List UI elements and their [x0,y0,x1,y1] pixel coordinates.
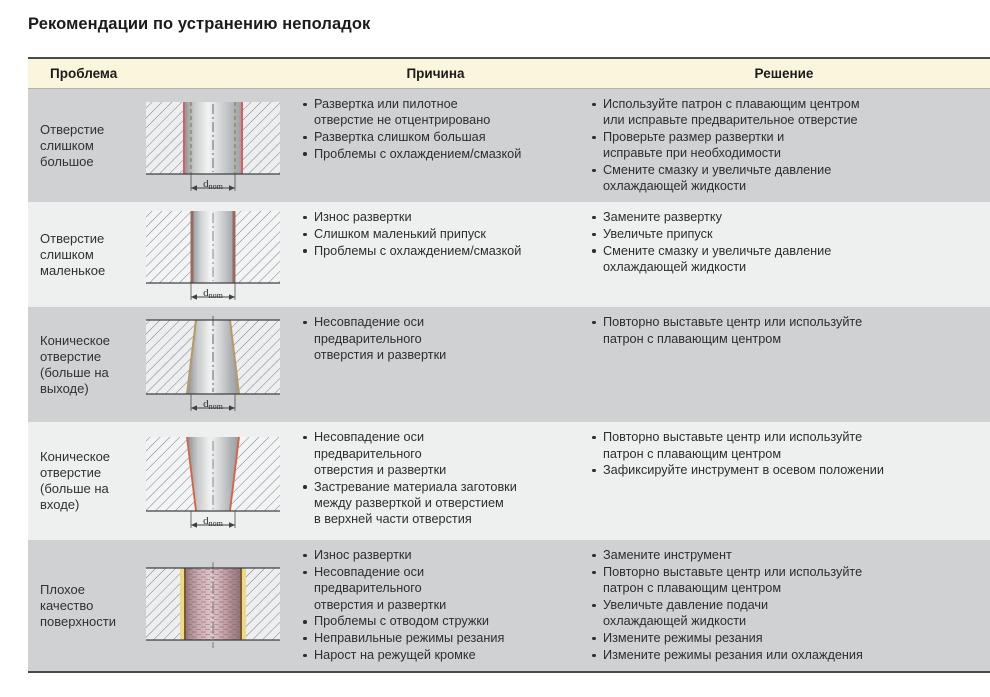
list-item: Неправильные режимы резания [301,630,568,646]
cell-solution: Повторно выставьте центр или используйте… [578,422,990,540]
solution-list: Повторно выставьте центр или используйте… [590,429,980,478]
cell-solution: Замените инструмент Повторно выставьте ц… [578,540,990,671]
list-item: Несовпадение оси предварительного отверс… [301,314,568,363]
figure-hole-oversize: dnom [136,96,293,196]
svg-text:dnom: dnom [203,287,224,300]
cross-section-diagram: dnom [138,205,288,305]
cause-list: Несовпадение оси предварительного отверс… [301,429,568,527]
troubleshooting-table-wrapper: Проблема Причина Решение Отверстие слишк… [28,57,990,673]
table-row: Коническое отверстие (больше на выходе) [28,307,990,422]
list-item: Слишком маленький припуск [301,226,568,242]
table-header-row: Проблема Причина Решение [28,59,990,89]
cell-problem: Плохое качество поверхности [28,540,293,671]
list-item: Замените развертку [590,209,980,225]
svg-text:dnom: dnom [203,398,224,411]
problem-label: Плохое качество поверхности [28,582,136,630]
solution-list: Замените инструмент Повторно выставьте ц… [590,547,980,663]
cross-section-diagram [138,556,288,656]
svg-text:dnom: dnom [203,178,224,191]
list-item: Проверьте размер развертки и исправьте п… [590,129,980,162]
table-body: Отверстие слишком большое [28,89,990,671]
list-item: Зафиксируйте инструмент в осевом положен… [590,462,980,478]
cell-cause: Износ развертки Слишком маленький припус… [293,202,578,307]
column-header-problem: Проблема [28,59,293,89]
solution-list: Повторно выставьте центр или используйте… [590,314,980,347]
cross-section-diagram: dnom [138,429,288,534]
list-item: Износ развертки [301,209,568,225]
list-item: Замените инструмент [590,547,980,563]
column-header-cause: Причина [293,59,578,89]
cell-problem: Коническое отверстие (больше на выходе) [28,307,293,422]
table-row: Отверстие слишком маленькое [28,202,990,307]
figure-hole-bad-surface [136,556,293,656]
list-item: Повторно выставьте центр или используйте… [590,314,980,347]
list-item: Смените смазку и увеличьте давление охла… [590,243,980,276]
table-row: Отверстие слишком большое [28,89,990,203]
list-item: Несовпадение оси предварительного отверс… [301,564,568,613]
list-item: Несовпадение оси предварительного отверс… [301,429,568,478]
list-item: Смените смазку и увеличьте давление охла… [590,162,980,195]
cause-list: Несовпадение оси предварительного отверс… [301,314,568,363]
problem-label: Отверстие слишком маленькое [28,231,136,279]
cause-list: Износ развертки Слишком маленький припус… [301,209,568,259]
list-item: Проблемы с охлаждением/смазкой [301,243,568,259]
list-item: Застревание материала заготовки между ра… [301,479,568,528]
list-item: Используйте патрон с плавающим центром и… [590,96,980,129]
problem-label: Коническое отверстие (больше на входе) [28,449,136,513]
list-item: Увеличьте припуск [590,226,980,242]
cause-list: Развертка или пилотное отверстие не отце… [301,96,568,162]
list-item: Нарост на режущей кромке [301,647,568,663]
troubleshooting-table: Проблема Причина Решение Отверстие слишк… [28,59,990,671]
list-item: Повторно выставьте центр или используйте… [590,429,980,462]
cause-list: Износ развертки Несовпадение оси предвар… [301,547,568,663]
list-item: Развертка слишком большая [301,129,568,145]
cell-solution: Используйте патрон с плавающим центром и… [578,89,990,203]
list-item: Проблемы с охлаждением/смазкой [301,146,568,162]
cell-problem: Коническое отверстие (больше на входе) [28,422,293,540]
figure-hole-taper-exit: dnom [136,312,293,417]
list-item: Измените режимы резания или охлаждения [590,647,980,663]
list-item: Износ развертки [301,547,568,563]
problem-label: Коническое отверстие (больше на выходе) [28,333,136,397]
problem-label: Отверстие слишком большое [28,122,136,170]
solution-list: Используйте патрон с плавающим центром и… [590,96,980,195]
cell-solution: Замените развертку Увеличьте припуск Сме… [578,202,990,307]
table-row: Коническое отверстие (больше на входе) [28,422,990,540]
list-item: Проблемы с отводом стружки [301,613,568,629]
cell-cause: Износ развертки Несовпадение оси предвар… [293,540,578,671]
figure-hole-undersize: dnom [136,205,293,305]
list-item: Повторно выставьте центр или используйте… [590,564,980,597]
cross-section-diagram: dnom [138,312,288,417]
column-header-solution: Решение [578,59,990,89]
page-title: Рекомендации по устранению неполадок [28,15,370,34]
cell-problem: Отверстие слишком маленькое [28,202,293,307]
list-item: Увеличьте давление подачи охлаждающей жи… [590,597,980,630]
table-row: Плохое качество поверхности [28,540,990,671]
figure-hole-taper-entry: dnom [136,429,293,534]
svg-text:dnom: dnom [203,515,224,528]
cell-cause: Несовпадение оси предварительного отверс… [293,307,578,422]
cross-section-diagram: dnom [138,96,288,196]
list-item: Развертка или пилотное отверстие не отце… [301,96,568,129]
solution-list: Замените развертку Увеличьте припуск Сме… [590,209,980,275]
cell-cause: Несовпадение оси предварительного отверс… [293,422,578,540]
cell-problem: Отверстие слишком большое [28,89,293,203]
list-item: Измените режимы резания [590,630,980,646]
cell-cause: Развертка или пилотное отверстие не отце… [293,89,578,203]
cell-solution: Повторно выставьте центр или используйте… [578,307,990,422]
